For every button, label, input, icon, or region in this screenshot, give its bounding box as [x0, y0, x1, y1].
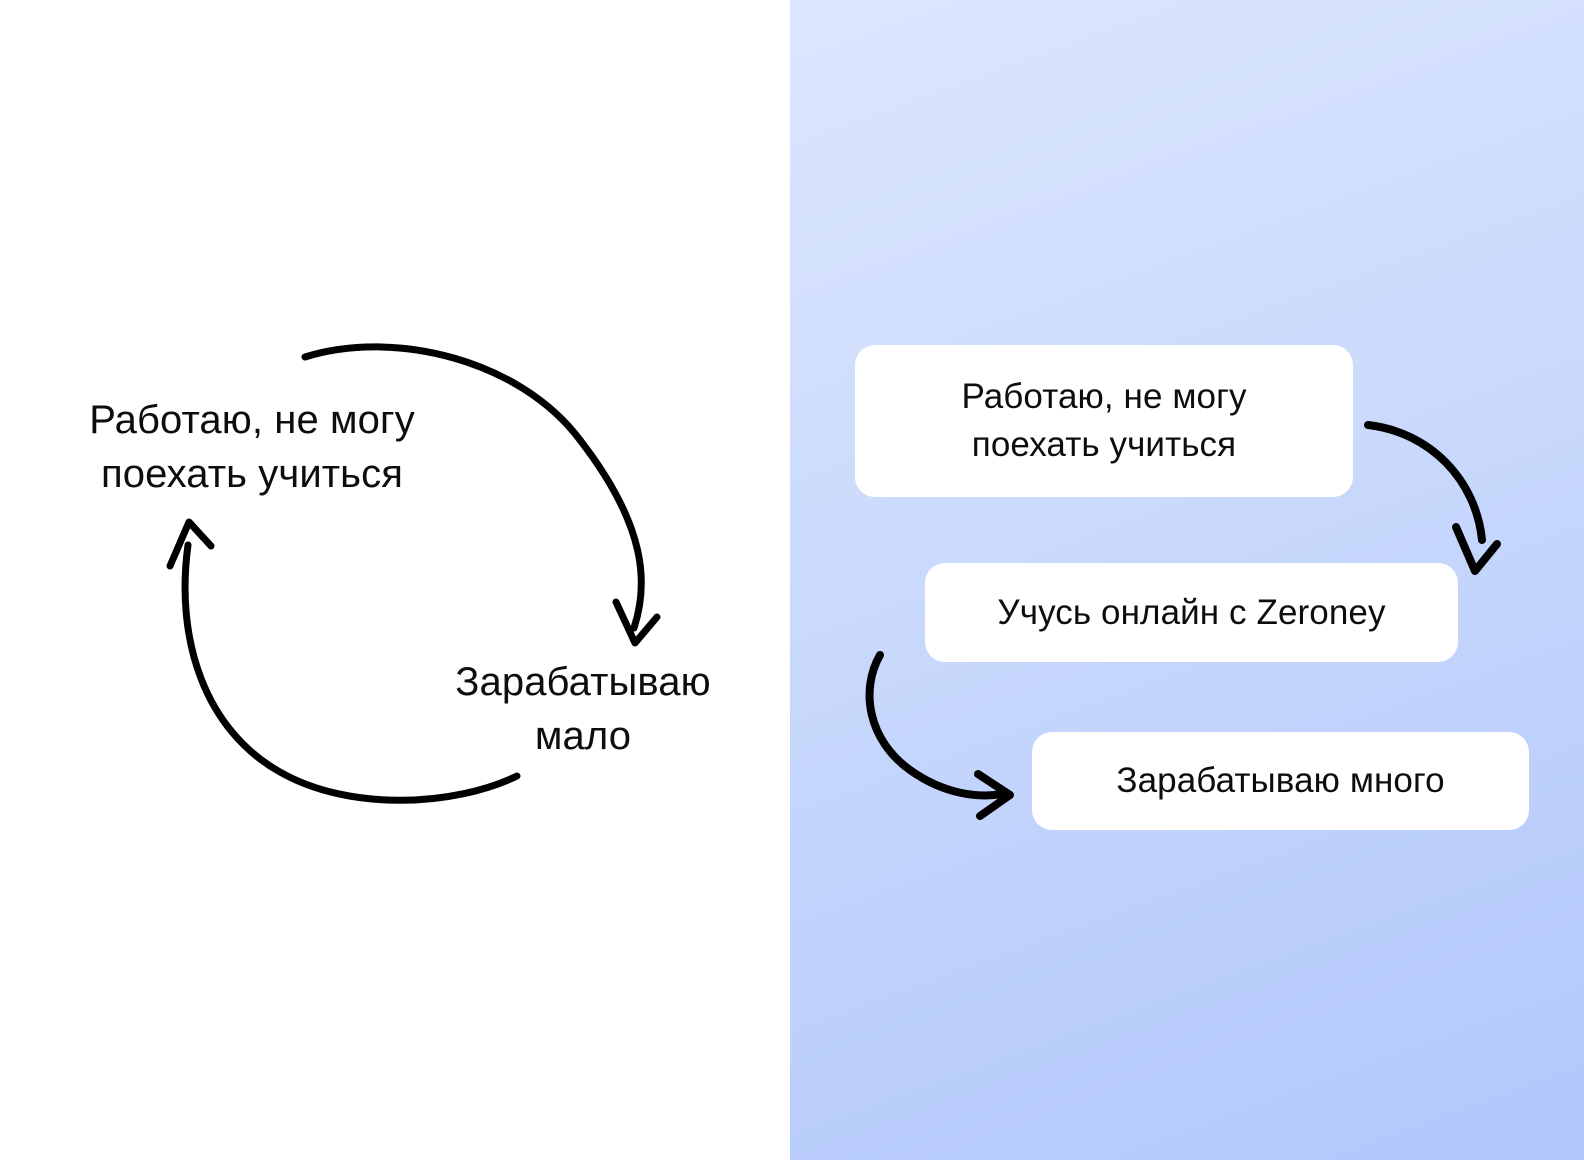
arrowhead-down-left-icon — [1456, 527, 1497, 571]
cycle-diagram — [0, 0, 790, 1160]
left-panel-vicious-cycle: Работаю, не могу поехать учиться Зарабат… — [0, 0, 790, 1160]
cycle-label-earn: Зарабатываю мало — [410, 655, 756, 763]
right-panel-solution-flow: Работаю, не могу поехать учиться Учусь о… — [790, 0, 1584, 1160]
slide-canvas: Работаю, не могу поехать учиться Зарабат… — [0, 0, 1584, 1160]
cycle-label-work: Работаю, не могу поехать учиться — [52, 393, 452, 501]
flow-arrow-2 — [870, 655, 1010, 816]
flow-arrow-1 — [1368, 425, 1497, 571]
flow-card-earn-much[interactable]: Зарабатываю много — [1032, 732, 1529, 830]
flow-card-study-online[interactable]: Учусь онлайн с Zeroney — [925, 563, 1458, 662]
flow-card-work[interactable]: Работаю, не могу поехать учиться — [855, 345, 1353, 497]
